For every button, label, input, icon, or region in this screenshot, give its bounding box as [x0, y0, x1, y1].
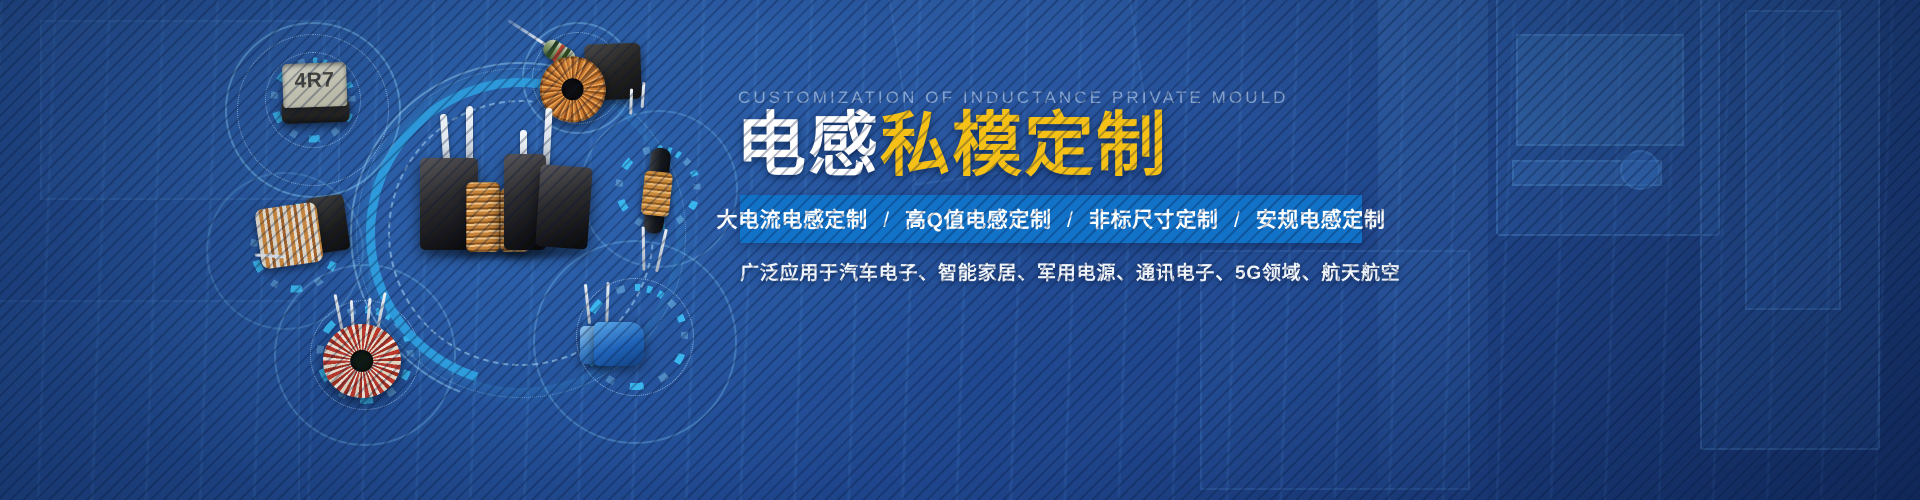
red-green-toroidal-choke-photo	[315, 296, 411, 400]
feature-separator: /	[1058, 209, 1082, 232]
banner-text-block: CUSTOMIZATION OF INDUCTANCE PRIVATE MOUL…	[738, 0, 1698, 500]
feature-separator: /	[1225, 209, 1249, 232]
smd-power-inductor-photo: 4R7	[280, 62, 350, 126]
banner-eyebrow-english: CUSTOMIZATION OF INDUCTANCE PRIVATE MOUL…	[738, 88, 1289, 108]
dual-core-common-mode-choke-photo	[404, 108, 594, 268]
feature-item-3: 安规电感定制	[1256, 209, 1386, 232]
background-machine-shape	[1745, 10, 1841, 310]
flat-common-mode-choke-photo	[245, 191, 354, 276]
feature-item-1: 高Q值电感定制	[905, 209, 1052, 232]
feature-item-2: 非标尺寸定制	[1089, 209, 1219, 232]
smd-inductor-part-label: 4R7	[280, 68, 349, 94]
headline-gold-part: 私模定制	[880, 106, 1168, 184]
blue-radial-inductor-photo	[572, 300, 656, 386]
page-title: 电感私模定制	[736, 110, 1168, 180]
feature-separator: /	[874, 209, 898, 232]
headline-white-part: 电感	[736, 106, 880, 184]
inductor-custom-mould-banner: 4R7	[0, 0, 1920, 500]
ferrite-rod-choke-photo	[615, 144, 704, 260]
feature-list-bar: 大电流电感定制 / 高Q值电感定制 / 非标尺寸定制 / 安规电感定制	[740, 195, 1362, 243]
applications-text: 广泛应用于汽车电子、智能家居、军用电源、通讯电子、5G领域、航天航空	[740, 258, 1401, 285]
feature-item-0: 大电流电感定制	[717, 209, 868, 232]
background-machine-shape	[0, 300, 300, 500]
feature-list-text: 大电流电感定制 / 高Q值电感定制 / 非标尺寸定制 / 安规电感定制	[717, 204, 1386, 234]
